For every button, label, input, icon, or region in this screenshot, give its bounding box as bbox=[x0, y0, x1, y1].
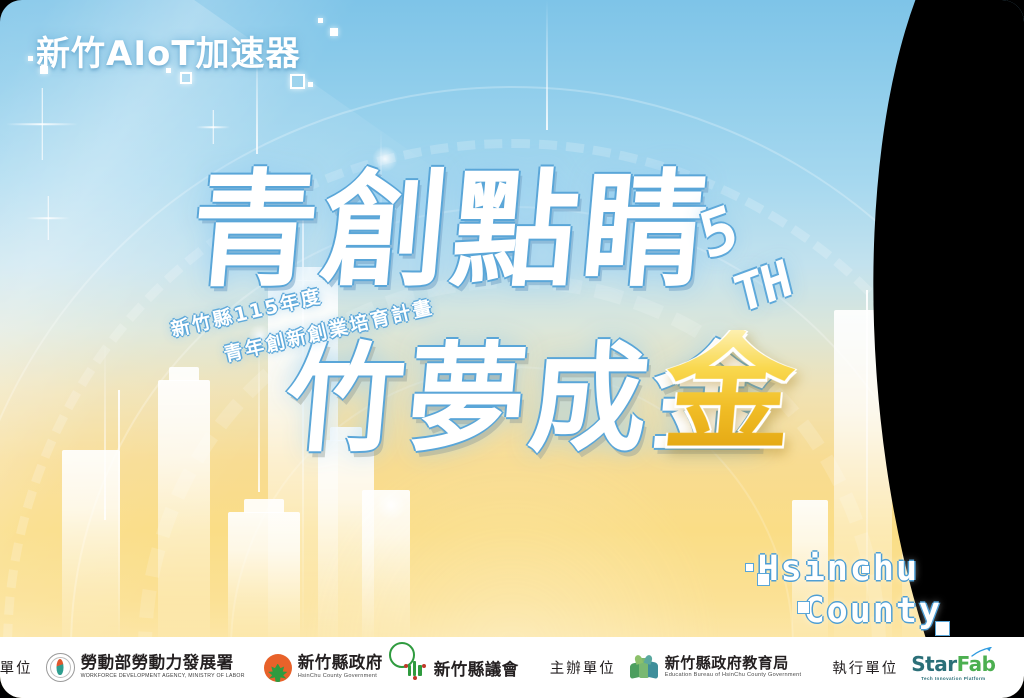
light-beam bbox=[546, 0, 548, 130]
pixel-accent bbox=[757, 573, 770, 586]
advisory-label: 指導單位 bbox=[0, 657, 33, 678]
building bbox=[318, 440, 374, 640]
logo-education-bureau: 新竹縣政府教育局 Education Bureau of HsinChu Cou… bbox=[629, 655, 802, 680]
council-ring bbox=[389, 642, 415, 668]
location-line-1: Hsinchu bbox=[758, 549, 942, 590]
pixel-accent bbox=[861, 565, 870, 574]
logo-hsinchu-county-government: 新竹縣政府 HsinChu County Government bbox=[264, 654, 383, 682]
location-line-2: County bbox=[804, 591, 942, 632]
logo-starfab: StarFab Tech Innovation Platform bbox=[911, 654, 995, 682]
edu-name-cn: 新竹縣政府教育局 bbox=[665, 656, 802, 671]
pixel-accent bbox=[28, 56, 33, 61]
pixel-accent bbox=[935, 621, 950, 636]
pixel-accent bbox=[180, 72, 192, 84]
starfab-arrow-icon bbox=[971, 647, 993, 657]
building bbox=[362, 490, 410, 640]
pixel-accent bbox=[166, 68, 171, 73]
pixel-accent bbox=[330, 28, 338, 36]
council-dot bbox=[413, 676, 417, 680]
starfab-word-star: Star bbox=[911, 652, 956, 676]
sponsor-footer-content: 指導單位 勞動部勞動力發展署 WORKFORCE DEVELOPMENT AGE… bbox=[0, 653, 1024, 682]
council-bar bbox=[408, 665, 411, 676]
pixel-accent bbox=[308, 82, 313, 87]
hcg-name-cn: 新竹縣政府 bbox=[298, 655, 383, 672]
wda-name-cn: 勞動部勞動力發展署 bbox=[81, 655, 245, 672]
headline-gold-character: 金 bbox=[659, 330, 798, 458]
logo-wda: 勞動部勞動力發展署 WORKFORCE DEVELOPMENT AGENCY, … bbox=[46, 653, 245, 682]
wda-seal-icon bbox=[46, 653, 75, 682]
location-label: Hsinchu County bbox=[758, 549, 942, 632]
pixel-accent bbox=[797, 601, 810, 614]
wda-text: 勞動部勞動力發展署 WORKFORCE DEVELOPMENT AGENCY, … bbox=[81, 655, 245, 679]
poster-root: 新竹AIoT加速器 青創點睛 5 TH 新竹縣115年度 青年創新創業培育計畫 … bbox=[0, 0, 1024, 698]
logo-county-council: 新竹縣議會 bbox=[402, 655, 519, 681]
starfab-wordmark: StarFab bbox=[911, 654, 995, 675]
council-bar bbox=[413, 661, 416, 676]
wda-name-en: WORKFORCE DEVELOPMENT AGENCY, MINISTRY O… bbox=[81, 674, 245, 679]
light-glow bbox=[376, 490, 406, 520]
executor-label: 執行單位 bbox=[832, 657, 898, 678]
edu-text: 新竹縣政府教育局 Education Bureau of HsinChu Cou… bbox=[665, 656, 802, 679]
council-dot bbox=[422, 664, 426, 668]
hcg-name-en: HsinChu County Government bbox=[298, 674, 383, 680]
building bbox=[228, 512, 300, 640]
edition-suffix: TH bbox=[729, 249, 796, 325]
council-name-cn: 新竹縣議會 bbox=[434, 656, 519, 680]
headline-line-2: 竹夢成金 bbox=[281, 340, 779, 458]
edition-number: 5 bbox=[692, 191, 743, 274]
sponsor-footer: 指導單位 勞動部勞動力發展署 WORKFORCE DEVELOPMENT AGE… bbox=[0, 637, 1024, 698]
organizer-label: 主辦單位 bbox=[550, 657, 616, 678]
starfab-tagline: Tech Innovation Platform bbox=[921, 677, 985, 682]
hcg-text: 新竹縣政府 HsinChu County Government bbox=[298, 655, 383, 680]
edu-name-en: Education Bureau of HsinChu County Gover… bbox=[665, 673, 802, 679]
pixel-accent bbox=[40, 66, 48, 74]
hsinchu-county-leaf-icon bbox=[264, 654, 292, 682]
pixel-accent bbox=[745, 563, 754, 572]
pixel-accent bbox=[290, 74, 305, 89]
council-dot bbox=[404, 664, 408, 668]
pixel-accent bbox=[318, 18, 323, 23]
education-bureau-tree-icon bbox=[629, 655, 659, 680]
poster-artboard: 新竹AIoT加速器 青創點睛 5 TH 新竹縣115年度 青年創新創業培育計畫 … bbox=[0, 0, 1024, 698]
county-council-icon bbox=[402, 655, 428, 681]
